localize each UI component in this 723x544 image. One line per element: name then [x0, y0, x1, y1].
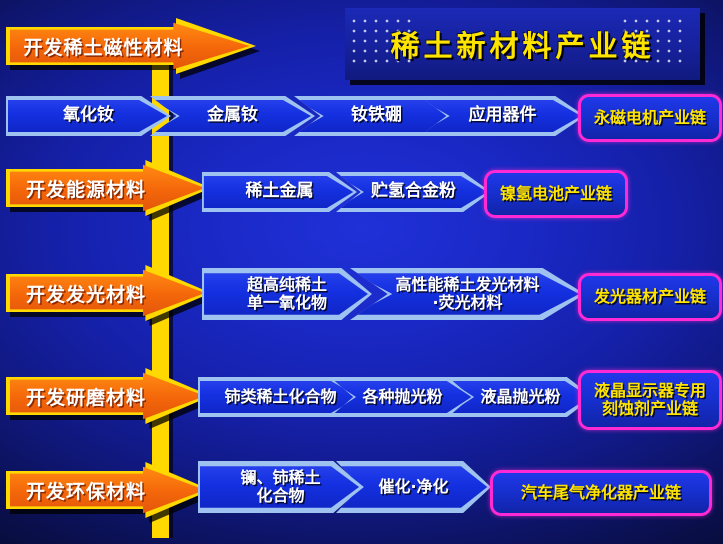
- step-label: 铈类稀土化合物: [220, 388, 340, 406]
- outcome-box-3[interactable]: 发光器材产业链: [578, 273, 722, 321]
- page-title: 稀土新材料产业链: [345, 8, 700, 80]
- step-label: 高性能稀土发光材料 ·荧光材料: [391, 276, 543, 312]
- outcome-box-4[interactable]: 液晶显示器专用 刻蚀剂产业链: [578, 370, 722, 430]
- step-label: 贮氢合金粉: [367, 182, 460, 201]
- stage-arrow-label: 开发环保材料: [6, 462, 166, 518]
- stage-arrow-label: 开发能源材料: [6, 160, 166, 216]
- step-label: 催化·净化: [374, 478, 452, 496]
- title-banner: 稀土新材料产业链: [345, 8, 700, 80]
- step-chevron-2-1[interactable]: 稀土金属: [202, 172, 357, 212]
- step-label: 氧化钕: [59, 106, 118, 125]
- stage-arrow-label: 开发稀土磁性材料: [6, 18, 201, 74]
- step-chevron-3-1[interactable]: 超高纯稀土 单一氧化物: [202, 268, 372, 320]
- step-chevron-1-1[interactable]: 氧化钕: [6, 96, 171, 136]
- step-chevron-3-2[interactable]: 高性能稀土发光材料 ·荧光材料: [350, 268, 585, 320]
- step-chevron-2-2[interactable]: 贮氢合金粉: [336, 172, 491, 212]
- step-label: 稀土金属: [242, 182, 318, 201]
- stage-arrow-energy-materials[interactable]: 开发能源材料: [6, 160, 211, 216]
- outcome-box-2[interactable]: 镍氢电池产业链: [484, 170, 628, 218]
- stage-arrow-magnetic-materials[interactable]: 开发稀土磁性材料: [6, 18, 256, 74]
- outcome-label: 镍氢电池产业链: [500, 185, 612, 203]
- step-chevron-5-1[interactable]: 镧、铈稀土 化合物: [198, 461, 363, 513]
- outcome-label: 液晶显示器专用 刻蚀剂产业链: [594, 382, 706, 419]
- stage-arrow-environmental-materials[interactable]: 开发环保材料: [6, 462, 211, 518]
- step-label: 金属钕: [203, 106, 262, 125]
- diagram-canvas: 稀土新材料产业链 开发稀土磁性材料 氧化钕 金属钕 钕铁硼 应用器件 永磁电机产…: [0, 0, 723, 544]
- stage-arrow-label: 开发研磨材料: [6, 368, 166, 424]
- outcome-label: 汽车尾气净化器产业链: [521, 484, 681, 502]
- outcome-label: 永磁电机产业链: [594, 109, 706, 127]
- step-label: 超高纯稀土 单一氧化物: [243, 276, 331, 312]
- step-chevron-1-2[interactable]: 金属钕: [150, 96, 315, 136]
- step-label: 各种抛光粉: [358, 388, 446, 406]
- outcome-box-5[interactable]: 汽车尾气净化器产业链: [490, 470, 712, 516]
- outcome-box-1[interactable]: 永磁电机产业链: [578, 94, 722, 142]
- stage-arrow-label: 开发发光材料: [6, 265, 166, 321]
- step-label: 应用器件: [465, 106, 541, 125]
- step-label: 钕铁硼: [347, 106, 406, 125]
- stage-arrow-luminescent-materials[interactable]: 开发发光材料: [6, 265, 211, 321]
- stage-arrow-abrasive-materials[interactable]: 开发研磨材料: [6, 368, 211, 424]
- outcome-label: 发光器材产业链: [594, 288, 706, 306]
- step-label: 镧、铈稀土 化合物: [236, 469, 324, 505]
- step-label: 液晶抛光粉: [476, 388, 564, 406]
